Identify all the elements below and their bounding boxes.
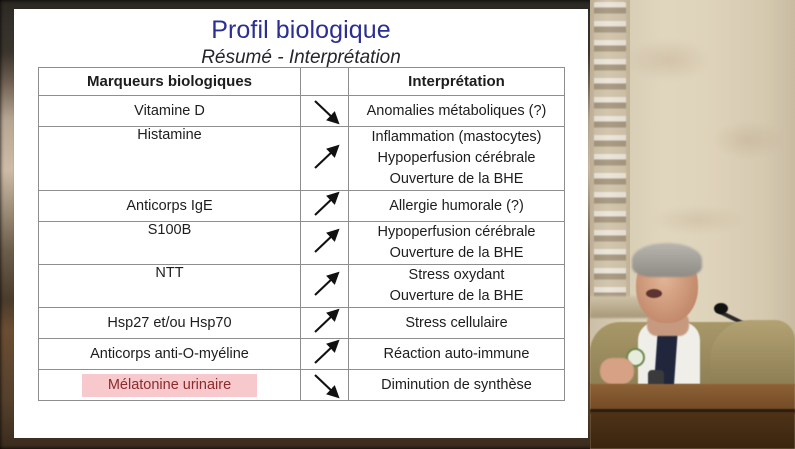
table-row: Anticorps anti-O-myélineRéaction auto-im… xyxy=(39,339,565,370)
marker-name-cell: Histamine xyxy=(39,127,301,191)
trend-arrow-cell xyxy=(301,265,349,308)
interpretation-cell: Réaction auto-immune xyxy=(349,339,565,370)
marker-name-cell: Vitamine D xyxy=(39,96,301,127)
slide-title: Profil biologique xyxy=(14,9,588,45)
arrow-up-right-icon xyxy=(309,144,341,174)
speaker-shoulder-right xyxy=(710,320,795,386)
column-header-arrow xyxy=(301,68,349,96)
marker-name-cell: NTT xyxy=(39,265,301,308)
table-row: Anticorps IgEAllergie humorale (?) xyxy=(39,191,565,222)
arrow-up-right-icon xyxy=(309,191,341,221)
trend-arrow-cell xyxy=(301,222,349,265)
speaker-video-feed[interactable] xyxy=(590,0,795,449)
interpretation-line: Ouverture de la BHE xyxy=(349,243,564,264)
interpretation-cell: Inflammation (mastocytes)Hypoperfusion c… xyxy=(349,127,565,191)
interpretation-cell: Stress oxydantOuverture de la BHE xyxy=(349,265,565,308)
marker-name-cell: Anticorps IgE xyxy=(39,191,301,222)
marker-name-cell: Anticorps anti-O-myéline xyxy=(39,339,301,370)
interpretation-line: Hypoperfusion cérébrale xyxy=(349,222,564,243)
interpretation-cell: Anomalies métaboliques (?) xyxy=(349,96,565,127)
table-body: Vitamine DAnomalies métaboliques (?)Hist… xyxy=(39,96,565,401)
arrow-down-right-icon xyxy=(309,96,341,126)
arrow-up-right-icon xyxy=(309,228,341,258)
interpretation-line: Stress cellulaire xyxy=(349,313,564,334)
table-header: Marqueurs biologiques Interprétation xyxy=(39,68,565,96)
interpretation-line: Diminution de synthèse xyxy=(349,375,564,396)
biological-markers-table: Marqueurs biologiques Interprétation Vit… xyxy=(38,67,565,401)
highlighted-marker: Mélatonine urinaire xyxy=(82,374,257,397)
marker-name-cell: S100B xyxy=(39,222,301,265)
table-row: Vitamine DAnomalies métaboliques (?) xyxy=(39,96,565,127)
interpretation-line: Réaction auto-immune xyxy=(349,344,564,365)
trend-arrow-cell xyxy=(301,308,349,339)
table-row: Mélatonine urinaireDiminution de synthès… xyxy=(39,370,565,401)
microphone-head-icon xyxy=(714,303,728,314)
column-header-markers: Marqueurs biologiques xyxy=(39,68,301,96)
presentation-slide: Profil biologique Résumé - Interprétatio… xyxy=(14,9,588,438)
table-header-row: Marqueurs biologiques Interprétation xyxy=(39,68,565,96)
arrow-up-right-icon xyxy=(309,308,341,338)
trend-arrow-cell xyxy=(301,191,349,222)
interpretation-cell: Hypoperfusion cérébraleOuverture de la B… xyxy=(349,222,565,265)
marker-name-cell: Mélatonine urinaire xyxy=(39,370,301,401)
marker-name-cell: Hsp27 et/ou Hsp70 xyxy=(39,308,301,339)
arrow-up-right-icon xyxy=(309,271,341,301)
video-carved-pilaster xyxy=(590,0,630,300)
table-row: Hsp27 et/ou Hsp70Stress cellulaire xyxy=(39,308,565,339)
trend-arrow-cell xyxy=(301,127,349,191)
interpretation-line: Anomalies métaboliques (?) xyxy=(349,101,564,122)
table-row: HistamineInflammation (mastocytes)Hypope… xyxy=(39,127,565,191)
arrow-down-right-icon xyxy=(309,370,341,400)
interpretation-line: Allergie humorale (?) xyxy=(349,196,564,217)
speaker-hand xyxy=(600,358,634,384)
interpretation-line: Inflammation (mastocytes) xyxy=(349,127,564,148)
arrow-up-right-icon xyxy=(309,339,341,369)
speaker-hair xyxy=(632,243,702,277)
column-header-interpretation: Interprétation xyxy=(349,68,565,96)
interpretation-cell: Allergie humorale (?) xyxy=(349,191,565,222)
table-row: NTTStress oxydantOuverture de la BHE xyxy=(39,265,565,308)
interpretation-line: Ouverture de la BHE xyxy=(349,286,564,307)
interpretation-line: Stress oxydant xyxy=(349,265,564,286)
interpretation-cell: Diminution de synthèse xyxy=(349,370,565,401)
trend-arrow-cell xyxy=(301,339,349,370)
speaker-desk-lower xyxy=(590,412,795,449)
table-row: S100BHypoperfusion cérébraleOuverture de… xyxy=(39,222,565,265)
screen: Profil biologique Résumé - Interprétatio… xyxy=(0,0,795,449)
trend-arrow-cell xyxy=(301,370,349,401)
interpretation-line: Ouverture de la BHE xyxy=(349,169,564,190)
interpretation-line: Hypoperfusion cérébrale xyxy=(349,148,564,169)
interpretation-cell: Stress cellulaire xyxy=(349,308,565,339)
speaker-mouth xyxy=(646,289,662,298)
trend-arrow-cell xyxy=(301,96,349,127)
